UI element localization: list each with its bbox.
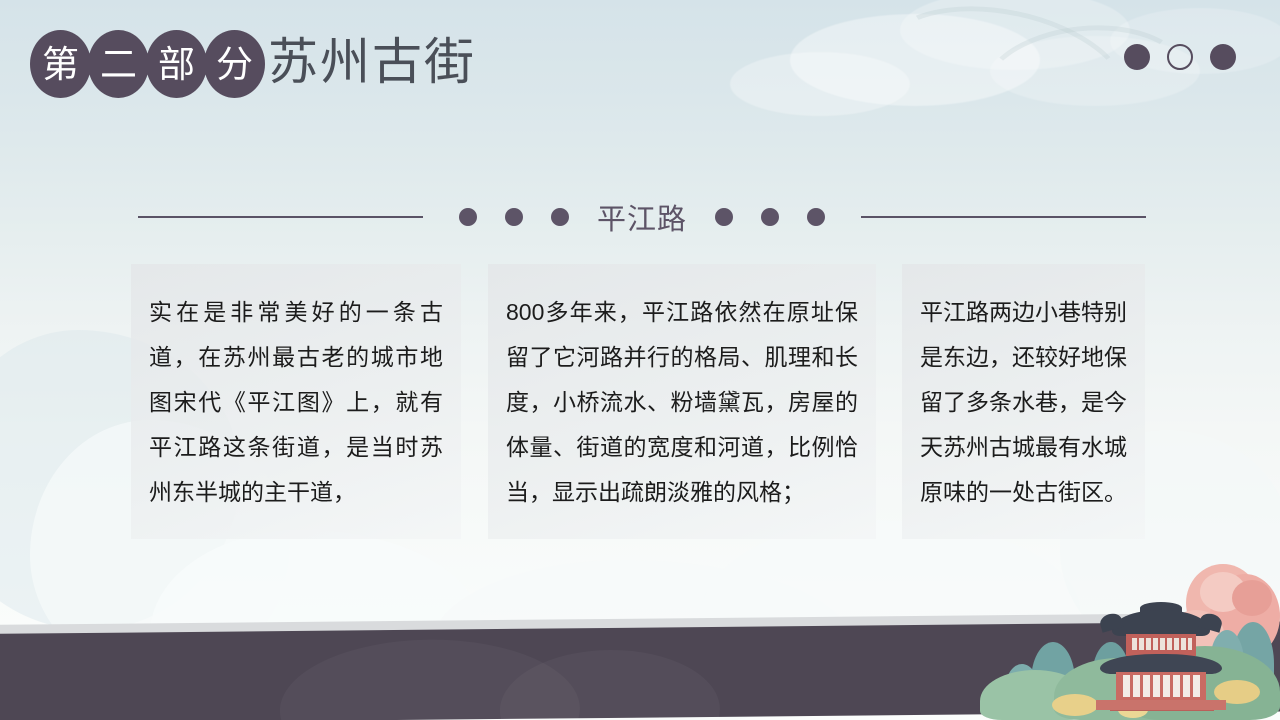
pavilion-fence [1096,700,1226,710]
page-dot-1[interactable] [1124,44,1150,70]
section-title: 平江路 [597,196,687,238]
yellow-shrub-1 [1052,694,1098,716]
section-rule-right [861,216,1146,218]
section-dots-right [715,208,825,226]
text-card-2-body: 800多年来，平江路依然在原址保留了它河路并行的格局、肌理和长度，小桥流水、粉墙… [506,290,858,515]
section-rule-left [138,216,423,218]
title-badge-3: 部 [146,30,207,98]
section-dot-left-2 [505,208,523,226]
section-dot-left-1 [459,208,477,226]
pavilion-upper-windows [1130,638,1192,650]
page-indicator [1124,44,1236,70]
section-header: 平江路 [138,196,1146,238]
text-card-1: 实在是非常美好的一条古道，在苏州最古老的城市地图宋代《平江图》上，就有平江路这条… [131,264,461,539]
pavilion-icon [1100,602,1222,712]
title-badge-2: 二 [88,30,149,98]
text-card-2: 800多年来，平江路依然在原址保留了它河路并行的格局、肌理和长度，小桥流水、粉墙… [488,264,876,539]
section-dot-right-1 [715,208,733,226]
text-card-3-body: 平江路两边小巷特别是东边，还较好地保留了多条水巷，是今天苏州古城最有水城原味的一… [920,290,1127,515]
pavilion-upper-roof [1112,610,1210,636]
pavilion-lower-roof [1100,654,1222,674]
slide-canvas: 第 二 部 分 苏州古街 平江路 实在是非常美好的一条古道，在苏州最古老的城市地… [0,0,1280,720]
pavilion-landscape-illustration [1020,560,1280,720]
page-dot-3[interactable] [1210,44,1236,70]
section-dot-left-3 [551,208,569,226]
title-badge-1: 第 [30,30,91,98]
section-dot-right-3 [807,208,825,226]
page-title: 第 二 部 分 苏州古街 [30,30,476,98]
title-badge-4: 分 [204,30,265,98]
content-cards: 实在是非常美好的一条古道，在苏州最古老的城市地图宋代《平江图》上，就有平江路这条… [131,264,1145,539]
title-main-text: 苏州古街 [268,37,476,91]
section-dot-right-2 [761,208,779,226]
sakura-blossom-5 [1232,580,1272,616]
pavilion-lower-windows [1120,675,1202,697]
text-card-3: 平江路两边小巷特别是东边，还较好地保留了多条水巷，是今天苏州古城最有水城原味的一… [902,264,1145,539]
page-dot-2[interactable] [1167,44,1193,70]
text-card-1-body: 实在是非常美好的一条古道，在苏州最古老的城市地图宋代《平江图》上，就有平江路这条… [149,290,443,515]
section-dots-left [459,208,569,226]
